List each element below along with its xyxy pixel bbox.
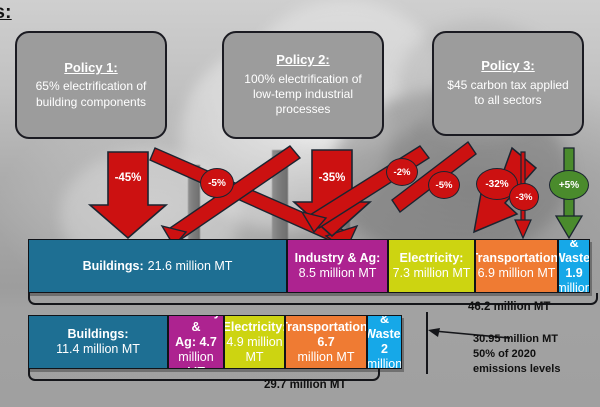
target-note: 30.95 million MT 50% of 2020 emissions l… <box>473 332 560 377</box>
bar-post-policy: Buildings: 11.4 million MT Industry & Ag… <box>28 315 402 369</box>
segment-water-waste-post-unit: million MT <box>367 357 402 369</box>
segment-electricity-post-label: Electricity: <box>224 320 285 335</box>
badge-minus-35: -35% <box>310 168 354 188</box>
segment-industry-ag-post-label: Industry & <box>169 315 223 335</box>
segment-water-waste-2020-value: Waste: 1.9 <box>558 251 590 281</box>
bar-2020-baseline: Buildings: 21.6 million MT Industry & Ag… <box>28 239 590 293</box>
segment-industry-ag-post-value: Ag: 4.7 <box>175 335 217 350</box>
segment-transportation-post-label: Transportation: 6.7 <box>285 320 367 350</box>
badge-minus-45: -45% <box>106 168 150 188</box>
segment-water-waste-2020-unit: million MT <box>558 281 590 293</box>
segment-buildings-2020-label: Buildings: <box>83 259 144 274</box>
segment-electricity-2020-label: Electricity: <box>400 251 464 266</box>
segment-industry-ag-2020[interactable]: Industry & Ag: 8.5 million MT <box>287 239 388 293</box>
badge-minus-5-a[interactable]: -5% <box>200 168 234 198</box>
segment-industry-ag-post-unit: million MT <box>169 350 223 370</box>
segment-industry-ag-2020-label: Industry & Ag: <box>295 251 381 266</box>
segment-electricity-post-value: 4.9 million MT <box>225 335 284 365</box>
badge-minus-2[interactable]: -2% <box>386 158 418 186</box>
total-post-policy-label: 29.7 million MT <box>264 379 346 391</box>
slide-canvas: usetts: Policy 1: 65% electrification of… <box>0 0 600 407</box>
segment-transportation-2020[interactable]: Transportation: 6.9 million MT <box>475 239 558 293</box>
badge-minus-2-label: -2% <box>394 167 411 178</box>
segment-industry-ag-2020-value: 8.5 million MT <box>299 266 377 281</box>
badge-minus-5-b-label: -5% <box>436 180 453 191</box>
segment-water-waste-2020[interactable]: Water & Waste: 1.9 million MT <box>558 239 590 293</box>
target-note-line3: emissions levels <box>473 362 560 377</box>
badge-minus-35-label: -35% <box>319 172 346 184</box>
badge-minus-3[interactable]: -3% <box>509 183 539 211</box>
segment-water-waste-post-label: Water & <box>367 315 401 327</box>
segment-buildings-post[interactable]: Buildings: 11.4 million MT <box>28 315 168 369</box>
segment-electricity-2020-value: 7.3 million MT <box>393 266 471 281</box>
segment-electricity-2020[interactable]: Electricity: 7.3 million MT <box>388 239 475 293</box>
badge-minus-5-a-label: -5% <box>208 178 226 189</box>
badge-minus-5-b[interactable]: -5% <box>428 171 460 199</box>
badge-minus-45-label: -45% <box>115 172 142 184</box>
badge-minus-32-label: -32% <box>485 179 508 190</box>
segment-transportation-post[interactable]: Transportation: 6.7 million MT <box>285 315 367 369</box>
segment-water-waste-2020-label: Water & <box>558 239 590 251</box>
arrow-minus-45 <box>90 152 166 238</box>
segment-buildings-post-label: Buildings: <box>67 327 128 342</box>
target-note-line1: 30.95 million MT <box>473 332 560 347</box>
segment-water-waste-post-value: Waste: 2 <box>367 327 402 357</box>
segment-transportation-post-value: million MT <box>298 350 355 365</box>
segment-buildings-2020[interactable]: Buildings: 21.6 million MT <box>28 239 287 293</box>
badge-plus-5[interactable]: +5% <box>549 170 589 200</box>
segment-transportation-2020-label: Transportation: <box>475 251 558 266</box>
segment-electricity-post[interactable]: Electricity: 4.9 million MT <box>224 315 285 369</box>
total-2020-label: 46.2 million MT <box>468 301 550 313</box>
badge-plus-5-label: +5% <box>559 180 579 191</box>
segment-buildings-2020-value: 21.6 million MT <box>148 259 233 274</box>
badge-minus-3-label: -3% <box>516 192 533 203</box>
segment-water-waste-post[interactable]: Water & Waste: 2 million MT <box>367 315 402 369</box>
target-note-line2: 50% of 2020 <box>473 347 560 362</box>
segment-transportation-2020-value: 6.9 million MT <box>478 266 556 281</box>
segment-industry-ag-post[interactable]: Industry & Ag: 4.7 million MT <box>168 315 224 369</box>
segment-buildings-post-value: 11.4 million MT <box>56 342 140 357</box>
